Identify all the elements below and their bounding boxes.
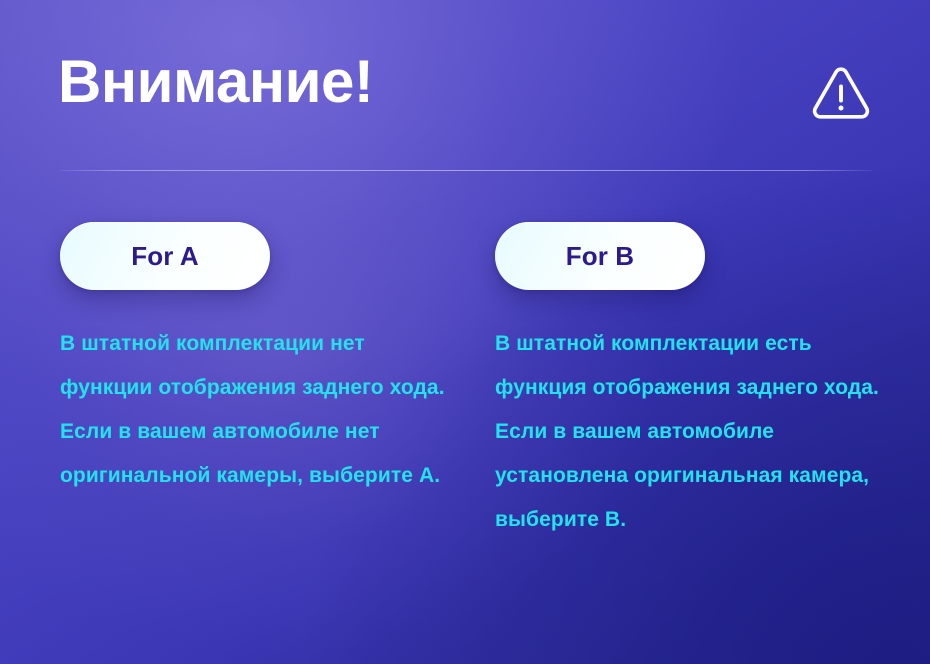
option-b-copy: В штатной комплектации есть функция отоб… [495, 322, 890, 542]
option-column-b: For B В штатной комплектации есть функци… [495, 206, 930, 542]
option-b-button-wrap: For B [495, 206, 705, 290]
option-a-button-label: For A [131, 243, 198, 269]
option-b-paragraph-2: Если в вашем автомобиле установлена ориг… [495, 410, 890, 542]
slide-header: Внимание! [0, 0, 930, 172]
option-a-paragraph-1: В штатной комплектации нет функции отобр… [60, 322, 455, 410]
option-b-paragraph-1: В штатной комплектации есть функция отоб… [495, 322, 890, 410]
header-divider [60, 170, 872, 171]
option-b-button[interactable]: For B [495, 222, 705, 290]
option-b-button-label: For B [566, 243, 634, 269]
option-a-button-wrap: For A [60, 206, 270, 290]
option-a-button[interactable]: For A [60, 222, 270, 290]
option-a-copy: В штатной комплектации нет функции отобр… [60, 322, 455, 498]
page-title: Внимание! [58, 52, 373, 112]
warning-triangle-icon [810, 64, 872, 122]
options-container: For A В штатной комплектации нет функции… [0, 206, 930, 542]
option-column-a: For A В штатной комплектации нет функции… [60, 206, 495, 542]
option-a-paragraph-2: Если в вашем автомобиле нет оригинальной… [60, 410, 455, 498]
warning-slide: Внимание! For A В штатной комплектации н… [0, 0, 930, 664]
